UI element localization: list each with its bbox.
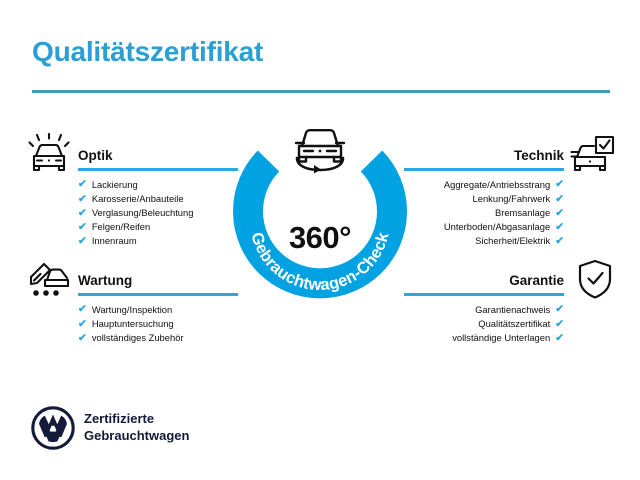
list-item-label: Innenraum [92,234,137,248]
check-icon: ✔ [555,304,564,315]
shield-check-icon [572,258,618,300]
check-icon: ✔ [555,179,564,190]
list-item-label: Hauptuntersuchung [92,317,174,331]
car-rotation-icon [288,122,352,174]
certificate-page: Qualitätszertifikat [0,0,640,480]
360-check-badge: Gebrauchtwagen-Check 360° [228,128,412,312]
check-icon: ✔ [78,222,87,233]
volkswagen-logo [31,406,75,450]
list-item-label: vollständiges Zubehör [92,331,184,345]
list-item-label: Sicherheit/Elektrik [475,234,550,248]
list-item: ✔Karosserie/Anbauteile [78,192,238,206]
list-item: ✔Wartung/Inspektion [78,303,238,317]
check-icon: ✔ [78,304,87,315]
check-icon: ✔ [78,333,87,344]
list-item-label: Aggregate/Antriebsstrang [444,178,550,192]
list-item: vollständige Unterlagen✔ [404,331,564,345]
list-item: Bremsanlage✔ [404,206,564,220]
footer-brand-text: Zertifizierte Gebrauchtwagen [84,410,189,444]
section-optik: Optik ✔Lackierung ✔Karosserie/Anbauteile… [78,148,238,249]
list-item: ✔Verglasung/Beleuchtung [78,206,238,220]
list-item-label: Bremsanlage [495,206,550,220]
pen-car-service-icon [26,258,72,300]
check-icon: ✔ [555,333,564,344]
check-icon: ✔ [555,208,564,219]
title-divider [32,90,610,93]
footer-line-1: Zertifizierte [84,410,189,427]
list-item: Qualitätszertifikat✔ [404,317,564,331]
check-icon: ✔ [78,319,87,330]
list-item-label: Wartung/Inspektion [92,303,172,317]
list-item-label: Qualitätszertifikat [478,317,550,331]
list-item: Lenkung/Fahrwerk✔ [404,192,564,206]
section-rule-optik [78,168,238,171]
section-heading-wartung: Wartung [78,273,238,289]
check-icon: ✔ [555,319,564,330]
list-item: ✔Felgen/Reifen [78,220,238,234]
list-item: ✔vollständiges Zubehör [78,331,238,345]
section-heading-technik: Technik [404,148,564,164]
check-icon: ✔ [78,208,87,219]
section-heading-garantie: Garantie [404,273,564,289]
list-item-label: Lackierung [92,178,138,192]
section-rule-technik [404,168,564,171]
badge-center-label: 360° [228,220,412,256]
list-item-label: Lenkung/Fahrwerk [473,192,551,206]
list-item: ✔Lackierung [78,178,238,192]
section-rule-wartung [78,293,238,296]
list-item-label: Unterboden/Abgasanlage [444,220,550,234]
section-heading-optik: Optik [78,148,238,164]
list-item-label: Felgen/Reifen [92,220,150,234]
list-item: Garantienachweis✔ [404,303,564,317]
car-checkbox-icon [570,133,616,175]
list-item-label: Verglasung/Beleuchtung [92,206,194,220]
section-rule-garantie [404,293,564,296]
list-item: ✔Hauptuntersuchung [78,317,238,331]
page-title: Qualitätszertifikat [32,36,263,68]
check-icon: ✔ [555,222,564,233]
list-item-label: vollständige Unterlagen [452,331,550,345]
check-icon: ✔ [78,236,87,247]
car-shine-icon [26,133,72,175]
list-item: Unterboden/Abgasanlage✔ [404,220,564,234]
section-garantie: Garantie Garantienachweis✔ Qualitätszert… [404,273,564,345]
check-icon: ✔ [78,179,87,190]
list-item: Aggregate/Antriebsstrang✔ [404,178,564,192]
list-item-label: Garantienachweis [475,303,550,317]
check-icon: ✔ [78,194,87,205]
footer-line-2: Gebrauchtwagen [84,427,189,444]
list-item: ✔Innenraum [78,234,238,248]
check-icon: ✔ [555,194,564,205]
list-item: Sicherheit/Elektrik✔ [404,234,564,248]
check-icon: ✔ [555,236,564,247]
list-item-label: Karosserie/Anbauteile [92,192,184,206]
section-wartung: Wartung ✔Wartung/Inspektion ✔Hauptunters… [78,273,238,345]
section-technik: Technik Aggregate/Antriebsstrang✔ Lenkun… [404,148,564,249]
